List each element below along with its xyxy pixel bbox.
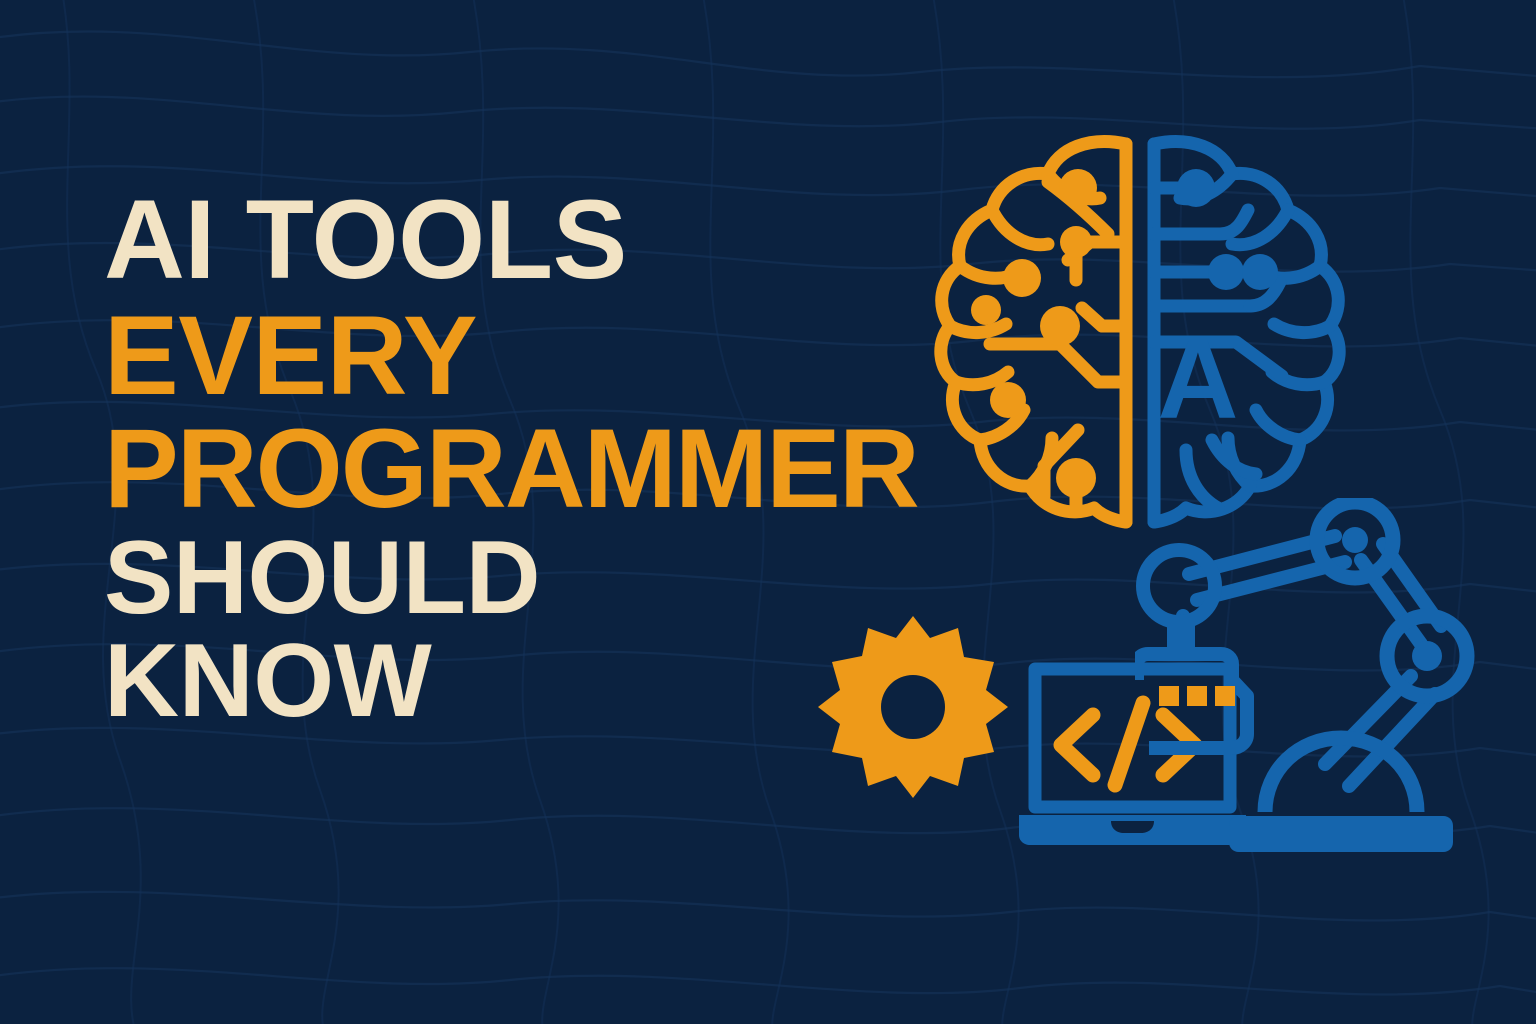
- laptop-base: [1019, 815, 1246, 845]
- robot-arm-icon: [1135, 498, 1475, 858]
- headline-line-5: KNOW: [104, 632, 1114, 732]
- robot-base-dome: [1265, 738, 1417, 812]
- headline-block: AI TOOLS EVERY PROGRAMMER SHOULD KNOW: [104, 186, 1114, 732]
- robot-gripper: [1137, 654, 1247, 748]
- robot-wrist-block: [1167, 624, 1195, 650]
- brain-right-hemisphere: [1154, 142, 1339, 522]
- headline-line-4: SHOULD: [104, 529, 1114, 629]
- brain-letter-a: A: [1158, 317, 1239, 442]
- laptop-notch: [1111, 821, 1154, 833]
- headline-line-1: AI TOOLS: [104, 186, 1114, 294]
- headline-line-2: EVERY: [104, 302, 1114, 410]
- headline-line-3: PROGRAMMER: [104, 415, 1114, 523]
- robot-base-plate: [1229, 816, 1453, 852]
- brain-right-nodes: [1177, 169, 1278, 290]
- poster-canvas: AI TOOLS EVERY PROGRAMMER SHOULD KNOW: [0, 0, 1536, 1024]
- robot-joints: [1143, 502, 1467, 696]
- gripper-indicator-lights: [1159, 686, 1235, 706]
